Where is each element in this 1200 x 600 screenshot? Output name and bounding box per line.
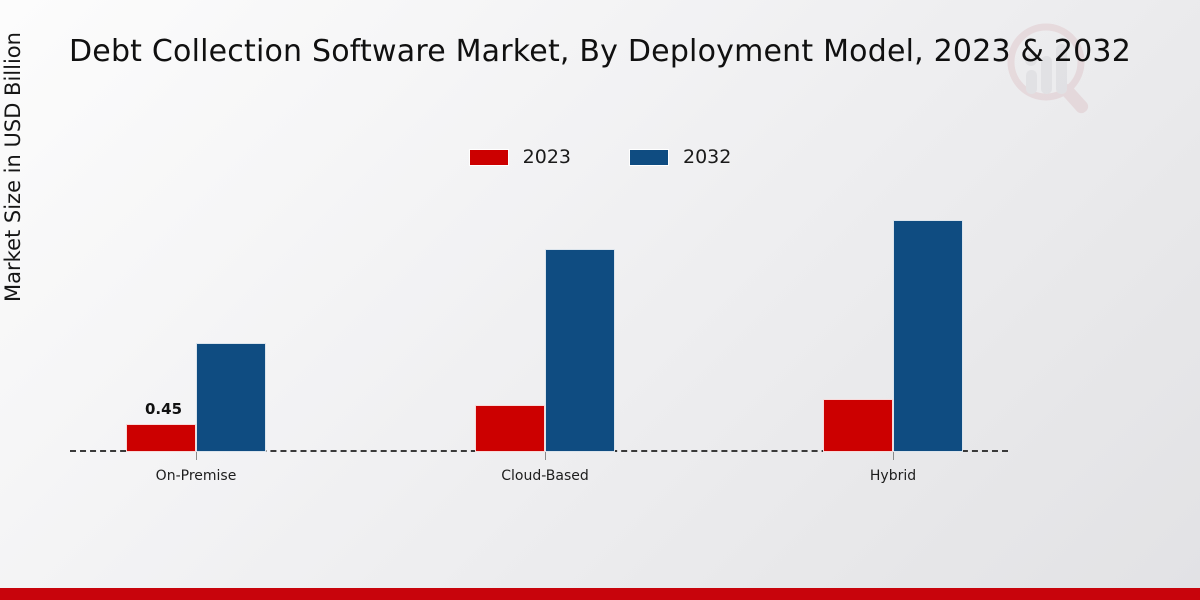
x-axis-tick <box>893 452 894 460</box>
bar-2032-cloud-based[interactable] <box>545 249 615 452</box>
legend-item-2032[interactable]: 2032 <box>629 146 731 168</box>
legend-swatch-2032 <box>629 149 669 166</box>
plot-area: 0.45On-PremiseCloud-BasedHybrid <box>70 190 1008 452</box>
chart-legend: 2023 2032 <box>0 146 1200 168</box>
footer-accent-bar <box>0 588 1200 600</box>
x-axis-tick <box>545 452 546 460</box>
x-axis-category-label: On-Premise <box>156 468 237 484</box>
chart-container: Debt Collection Software Market, By Depl… <box>0 0 1200 600</box>
bar-2023-cloud-based[interactable] <box>475 405 545 452</box>
x-axis-category-label: Hybrid <box>870 468 916 484</box>
legend-item-2023[interactable]: 2023 <box>469 146 571 168</box>
x-axis-tick <box>196 452 197 460</box>
legend-swatch-2023 <box>469 149 509 166</box>
chart-title: Debt Collection Software Market, By Depl… <box>0 34 1200 69</box>
logo-bar-1 <box>1026 70 1037 94</box>
bar-2023-hybrid[interactable] <box>823 399 893 452</box>
y-axis-title: Market Size in USD Billion <box>1 2 25 332</box>
bar-2032-on-premise[interactable] <box>196 343 266 452</box>
legend-label-2032: 2032 <box>683 146 731 168</box>
bar-group: Cloud-Based <box>475 190 615 452</box>
legend-label-2023: 2023 <box>523 146 571 168</box>
bar-2023-on-premise[interactable] <box>126 424 196 452</box>
x-axis-category-label: Cloud-Based <box>501 468 589 484</box>
bar-group: 0.45On-Premise <box>126 190 266 452</box>
magnifier-handle-icon <box>1058 82 1090 116</box>
bar-group: Hybrid <box>823 190 963 452</box>
bar-2032-hybrid[interactable] <box>893 220 963 452</box>
